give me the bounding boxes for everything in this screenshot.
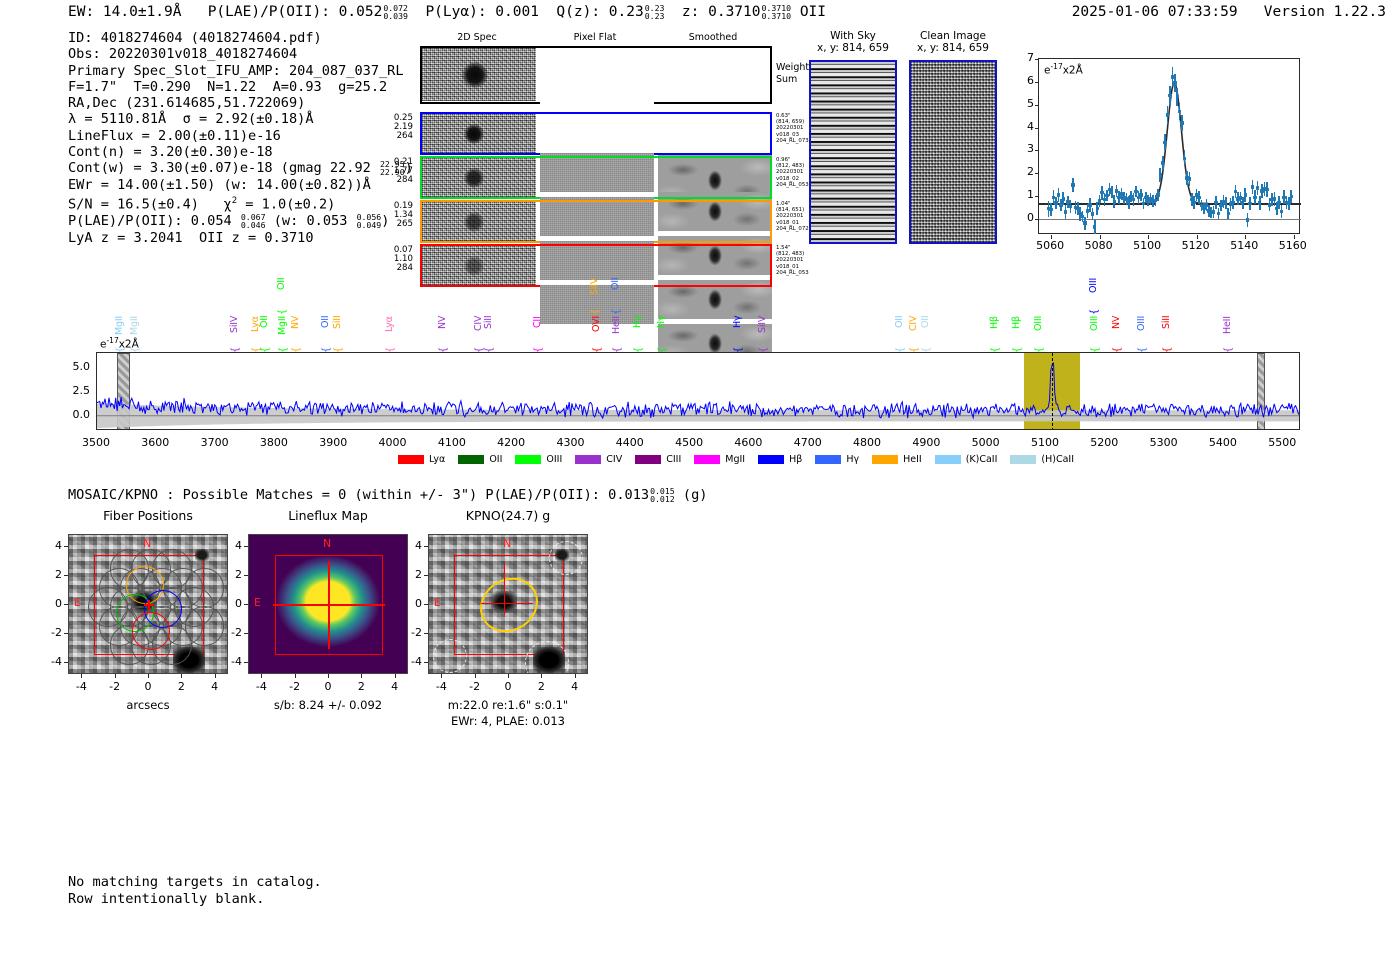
panel-ytick-label-kpno-g: -2 — [404, 626, 422, 640]
legend-item-(H)CaII: (H)CaII — [1010, 454, 1074, 465]
param-redshifts: LyA z = 3.2041 OII z = 0.3710 — [68, 230, 413, 246]
panel-ytick-label-lineflux-map: -2 — [224, 626, 242, 640]
legend-label-OIII: OIII — [546, 454, 562, 465]
param-radec: RA,Dec (231.614685,51.722069) — [68, 95, 413, 111]
panel-xtick-label-kpno-g: 4 — [561, 680, 589, 694]
line-fit-point — [1091, 212, 1094, 215]
panel-xtick-label-lineflux-map: 2 — [347, 680, 375, 694]
dashed-circle-1 — [433, 639, 467, 673]
emission-line-brace-8: { — [321, 340, 332, 353]
spectrum-xtick-label: 4200 — [486, 436, 536, 450]
line-fit-point — [1224, 201, 1227, 204]
spectrum-xtick-label: 3500 — [71, 436, 121, 450]
line-fit-ytick-label: 4 — [1016, 120, 1034, 133]
line-fit-ytick-label: 7 — [1016, 51, 1034, 64]
panel-image-lineflux-map — [248, 534, 408, 674]
montage-col-title-1: Pixel Flat — [538, 32, 652, 44]
fiber-row-0-blob — [464, 124, 484, 144]
header-z-value: 0.3710 — [708, 4, 760, 20]
line-fit-point — [1088, 203, 1091, 206]
emission-line-brace-15: { — [592, 340, 603, 353]
legend-item-HeII: HeII — [872, 454, 922, 465]
spectrum-xtick-label: 3600 — [130, 436, 180, 450]
legend-label-CIV: CIV — [606, 454, 622, 465]
line-fit-point — [1096, 207, 1099, 210]
fiber-row-0-cell-0 — [422, 114, 536, 153]
line-fit-point — [1083, 221, 1086, 224]
panel-ytick-label-kpno-g: -4 — [404, 655, 422, 669]
emission-line-brace-13: { — [484, 340, 495, 353]
panel-xtick-fiber-positions — [215, 674, 216, 678]
emission-line-brace-26: { — [990, 340, 1001, 353]
line-fit-xtick-label: 5140 — [1226, 239, 1262, 252]
line-fit-point — [1197, 196, 1200, 199]
line-fit-point — [1231, 201, 1234, 204]
panel-ytick-kpno-g — [424, 575, 428, 576]
spectrum-xtick-label: 5100 — [1020, 436, 1070, 450]
line-fit-point — [1280, 210, 1283, 213]
panel-ytick-label-lineflux-map: -4 — [224, 655, 242, 669]
spectrum-xtick-label: 4800 — [842, 436, 892, 450]
direction-east-lineflux-map: E — [254, 596, 266, 609]
montage-col-title-2: Smoothed — [656, 32, 770, 44]
emission-line-brace-18: { — [611, 302, 622, 315]
spectrum-ytick — [96, 416, 97, 417]
line-fit-ytick-label: 0 — [1016, 211, 1034, 224]
full-spectrum-chart: 3500360037003800390040004100420043004400… — [0, 268, 1400, 478]
line-fit-xtick-label: 5160 — [1275, 239, 1311, 252]
weighted-sum-source-blob — [462, 62, 488, 88]
line-fit-point — [1217, 212, 1220, 215]
line-fit-point — [1168, 94, 1171, 97]
line-fit-point — [1173, 81, 1176, 84]
spectrum-xtick-label: 4300 — [545, 436, 595, 450]
legend-item-OIII: OIII — [515, 454, 562, 465]
line-fit-point — [1176, 95, 1179, 98]
param-cont-n: Cont(n) = 3.20(±0.30)e-18 — [68, 144, 413, 160]
fiber-row-2-left-2: 265 — [365, 220, 413, 229]
panel-ytick-label-fiber-positions: 4 — [44, 539, 62, 553]
panel-ytick-label-lineflux-map: 2 — [224, 568, 242, 582]
legend-label-Hβ: Hβ — [789, 454, 802, 465]
panel-xtick-label-fiber-positions: 2 — [167, 680, 195, 694]
legend-item-Hβ: Hβ — [758, 454, 802, 465]
fiber-row-2-left-labels: 0.191.34265 — [365, 202, 413, 232]
panel-xtick-lineflux-map — [395, 674, 396, 678]
emission-line-brace-30: { — [1089, 302, 1100, 315]
param-seeing: F=1.7" T=0.290 N=1.22 A=0.93 g=25.2 — [68, 79, 413, 95]
fiber-row-1-left-2: 284 — [365, 176, 413, 185]
header-timestamp-version: 2025-01-06 07:33:59 Version 1.22.3 — [1072, 4, 1386, 20]
line-fit-chart: e-17x2Å50605080510051205140516001234567 — [994, 48, 1306, 260]
line-fit-point — [1258, 201, 1261, 204]
legend-item-Lyα: Lyα — [398, 454, 445, 465]
panel-xtick-label-lineflux-map: -2 — [281, 680, 309, 694]
legend-swatch-Hγ — [815, 455, 841, 464]
spectrum-xtick-label: 5000 — [961, 436, 1011, 450]
emission-line-brace-22: { — [758, 340, 769, 353]
panel-xtick-label-kpno-g: -4 — [427, 680, 455, 694]
param-lineflux: LineFlux = 2.00(±0.11)e-16 — [68, 128, 413, 144]
legend-label-(K)CaII: (K)CaII — [966, 454, 998, 465]
line-fit-point — [1161, 161, 1164, 164]
legend-swatch-OII — [458, 455, 484, 464]
line-fit-point — [1163, 141, 1166, 144]
panel-xtick-kpno-g — [475, 674, 476, 678]
spectrum-xtick-label: 4500 — [664, 436, 714, 450]
legend-item-CIV: CIV — [575, 454, 622, 465]
param-obs: Obs: 20220301v018_4018274604 — [68, 46, 413, 62]
cutout-title-text-clean-image: Clean Image — [903, 30, 1003, 42]
panel-ytick-label-lineflux-map: 4 — [224, 539, 242, 553]
panel-caption2-kpno-g: EWr: 4, PLAE: 0.013 — [388, 714, 628, 729]
panel-image-kpno-g — [428, 534, 588, 674]
line-fit-point — [1277, 201, 1280, 204]
emission-line-brace-31: { — [1112, 340, 1123, 353]
panel-xtick-label-fiber-positions: 0 — [134, 680, 162, 694]
panel-xtick-label-lineflux-map: 4 — [381, 680, 409, 694]
line-fit-ytick-label: 5 — [1016, 97, 1034, 110]
line-fit-point — [1253, 196, 1256, 199]
panel-xtick-kpno-g — [541, 674, 542, 678]
line-fit-xtick-label: 5120 — [1178, 239, 1214, 252]
emission-line-brace-17: { — [612, 340, 623, 353]
emission-line-brace-10: { — [385, 340, 396, 353]
line-fit-point — [1049, 208, 1052, 211]
fiber-row-1-cell-0 — [422, 158, 536, 197]
spectra-montage: 2D SpecPixel FlatSmoothedWeightedSum0.25… — [420, 32, 820, 257]
spectrum-axes — [96, 352, 1300, 430]
spectrum-ytick-label: 2.5 — [52, 384, 90, 398]
panel-xtick-fiber-positions — [148, 674, 149, 678]
panel-ytick-kpno-g — [424, 662, 428, 663]
spectrum-xtick-label: 4900 — [901, 436, 951, 450]
emission-line-brace-34: { — [1223, 340, 1234, 353]
header-z-errors: 0.37100.3710 — [762, 4, 792, 21]
lineflux-red-box — [275, 555, 383, 655]
panel-ytick-lineflux-map — [244, 546, 248, 547]
cutout-image-with-sky — [809, 60, 897, 244]
header-plya-label: P(Lyα): — [425, 4, 486, 20]
panel-ytick-label-lineflux-map: 0 — [224, 597, 242, 611]
panel-ytick-lineflux-map — [244, 662, 248, 663]
line-fit-point — [1064, 210, 1067, 213]
header-summary: EW: 14.0±1.9Å P(LAE)/P(OII): 0.0520.0720… — [68, 4, 826, 21]
header-plae-label: P(LAE)/P(OII): — [208, 4, 330, 20]
emission-line-legend: LyαOIIOIIICIVCIIIMgIIHβHγHeII(K)CaII(H)C… — [398, 452, 1018, 466]
panel-ytick-lineflux-map — [244, 575, 248, 576]
line-fit-point — [1178, 110, 1181, 113]
line-fit-point — [1071, 183, 1074, 186]
panel-ytick-kpno-g — [424, 546, 428, 547]
spectrum-xtick-label: 4400 — [605, 436, 655, 450]
mosaic-match-line: MOSAIC/KPNO : Possible Matches = 0 (with… — [68, 487, 707, 504]
emission-line-brace-32: { — [1137, 340, 1148, 353]
spectrum-xtick-label: 5300 — [1139, 436, 1189, 450]
line-fit-axes: e-17x2Å — [1038, 58, 1300, 234]
param-primary-spec-slot: Primary Spec_Slot_IFU_AMP: 204_087_037_R… — [68, 63, 413, 79]
panel-title-kpno-g: KPNO(24.7) g — [406, 508, 610, 524]
line-fit-point — [1256, 186, 1259, 189]
panel-ytick-fiber-positions — [64, 546, 68, 547]
line-fit-point — [1093, 225, 1096, 228]
mosaic-plae-errors: 0.0150.012 — [650, 487, 675, 504]
fiber-row-0-left-2: 264 — [365, 132, 413, 141]
panel-xtick-lineflux-map — [361, 674, 362, 678]
panel-ytick-label-kpno-g: 2 — [404, 568, 422, 582]
line-fit-point — [1156, 193, 1159, 196]
header-plae-value: 0.052 — [339, 4, 383, 20]
panel-xtick-label-kpno-g: 0 — [494, 680, 522, 694]
line-fit-ytick-label: 6 — [1016, 74, 1034, 87]
header-qz-value: 0.23 — [609, 4, 644, 20]
panel-xtick-kpno-g — [575, 674, 576, 678]
panel-ytick-fiber-positions — [64, 633, 68, 634]
mosaic-filter: (g) — [683, 487, 708, 503]
line-fit-ytick-label: 1 — [1016, 188, 1034, 201]
spectrum-xtick-label: 4000 — [368, 436, 418, 450]
panel-xtick-label-lineflux-map: 0 — [314, 680, 342, 694]
param-lambda-sigma: λ = 5110.81Å σ = 2.92(±0.18)Å — [68, 111, 413, 127]
panel-xtick-fiber-positions — [115, 674, 116, 678]
header-plae-errors: 0.0720.039 — [383, 4, 408, 21]
emission-line-brace-2: { — [230, 340, 241, 353]
param-ewr: EWr = 14.00(±1.50) (w: 14.00(±0.82))Å — [68, 177, 413, 193]
spectrum-xtick-label: 3800 — [249, 436, 299, 450]
line-fit-point — [1227, 212, 1230, 215]
emission-line-brace-27: { — [1012, 340, 1023, 353]
legend-swatch-CIV — [575, 455, 601, 464]
header-z-label: z: — [682, 4, 699, 20]
header-ew: EW: 14.0±1.9Å — [68, 4, 182, 20]
spectrum-xtick-label: 5400 — [1198, 436, 1248, 450]
panel-caption-kpno-g: m:22.0 re:1.6" s:0.1" — [388, 698, 628, 713]
direction-north-kpno-g: N — [503, 537, 515, 550]
line-fit-point — [1251, 185, 1254, 188]
spectrum-xtick-label: 5500 — [1257, 436, 1307, 450]
emission-line-brace-28: { — [1034, 340, 1045, 353]
panel-xtick-label-fiber-positions: -4 — [67, 680, 95, 694]
emission-line-brace-6: { — [277, 302, 288, 315]
spectrum-xtick-label: 5200 — [1079, 436, 1129, 450]
dashed-circle-0 — [549, 541, 583, 575]
montage-col-title-0: 2D Spec — [420, 32, 534, 44]
line-fit-point — [1159, 173, 1162, 176]
line-fit-point — [1110, 190, 1113, 193]
emission-line-brace-29: { — [1090, 340, 1101, 353]
line-fit-point — [1214, 201, 1217, 204]
legend-label-MgII: MgII — [725, 454, 745, 465]
line-fit-point — [1212, 210, 1215, 213]
panel-ytick-lineflux-map — [244, 633, 248, 634]
panel-xtick-label-kpno-g: 2 — [527, 680, 555, 694]
line-fit-ytick — [1035, 196, 1039, 197]
line-fit-point — [1244, 193, 1247, 196]
line-fit-point — [1166, 113, 1169, 116]
timestamp: 2025-01-06 07:33:59 — [1072, 4, 1238, 20]
kpno-crosshair-v — [504, 563, 505, 615]
mosaic-text: MOSAIC/KPNO : Possible Matches = 0 (with… — [68, 487, 649, 503]
line-fit-point — [1248, 202, 1251, 205]
fiber-row-2-blob — [464, 212, 484, 232]
panel-xtick-lineflux-map — [261, 674, 262, 678]
spectrum-xtick-label: 4700 — [783, 436, 833, 450]
emission-line-brace-5: { — [278, 340, 289, 353]
target-marker-v-fiber-positions — [148, 600, 150, 610]
legend-swatch-MgII — [694, 455, 720, 464]
spectrum-ytick — [96, 368, 97, 369]
legend-label-HeII: HeII — [903, 454, 922, 465]
panel-xtick-kpno-g — [441, 674, 442, 678]
panel-ytick-label-fiber-positions: 2 — [44, 568, 62, 582]
line-fit-point — [1273, 197, 1276, 200]
weighted-sum-cell-0 — [422, 48, 536, 101]
panel-xtick-kpno-g — [508, 674, 509, 678]
header-qz-label: Q(z): — [556, 4, 600, 20]
panel-ytick-fiber-positions — [64, 662, 68, 663]
fiber-circle-highlight-3 — [132, 612, 170, 650]
line-fit-point — [1098, 199, 1101, 202]
bottom-cutout-panels: Fiber Positions-4-4-2-2002244NEarcsecsLi… — [0, 508, 1400, 748]
panel-ytick-kpno-g — [424, 633, 428, 634]
line-fit-xtick-label: 5060 — [1032, 239, 1068, 252]
panel-ytick-fiber-positions — [64, 604, 68, 605]
direction-east-fiber-positions: E — [74, 596, 86, 609]
param-id: ID: 4018274604 (4018274604.pdf) — [68, 30, 413, 46]
line-fit-ytick — [1035, 59, 1039, 60]
line-fit-point — [1265, 188, 1268, 191]
panel-xtick-label-kpno-g: -2 — [461, 680, 489, 694]
legend-item-(K)CaII: (K)CaII — [935, 454, 998, 465]
fiber-row-1-left-labels: 0.211.77284 — [365, 158, 413, 188]
emission-line-brace-11: { — [438, 340, 449, 353]
spectrum-marker-line — [1052, 353, 1053, 430]
spectrum-ytick-label: 5.0 — [52, 360, 90, 374]
panel-xtick-lineflux-map — [328, 674, 329, 678]
emission-line-brace-23: { — [895, 340, 906, 353]
panel-ytick-label-fiber-positions: -2 — [44, 626, 62, 640]
line-fit-point — [1139, 193, 1142, 196]
legend-swatch-(K)CaII — [935, 455, 961, 464]
line-fit-point — [1246, 218, 1249, 221]
legend-swatch-OIII — [515, 455, 541, 464]
header-plya-value: 0.001 — [495, 4, 539, 20]
fiber-row-2-cell-0 — [422, 202, 536, 241]
line-fit-xtick-label: 5080 — [1081, 239, 1117, 252]
legend-swatch-Hβ — [758, 455, 784, 464]
header-z-species: OII — [800, 4, 826, 20]
panel-ytick-lineflux-map — [244, 604, 248, 605]
emission-line-brace-0: { — [115, 340, 126, 353]
emission-line-brace-1: { — [130, 340, 141, 353]
emission-line-brace-21: { — [733, 340, 744, 353]
line-fit-ytick — [1035, 128, 1039, 129]
emission-line-brace-24: { — [909, 340, 920, 353]
line-fit-point — [1069, 205, 1072, 208]
panel-xtick-label-lineflux-map: -4 — [247, 680, 275, 694]
emission-line-brace-25: { — [921, 340, 932, 353]
line-fit-ytick — [1035, 150, 1039, 151]
emission-line-brace-19: { — [633, 340, 644, 353]
direction-north-fiber-positions: N — [143, 537, 155, 550]
fiber-row-1-blob — [464, 168, 484, 188]
spectrum-ytick-label: 0.0 — [52, 408, 90, 422]
footer-note: No matching targets in catalog. Row inte… — [68, 874, 322, 908]
direction-north-lineflux-map: N — [323, 537, 335, 550]
line-fit-point — [1180, 121, 1183, 124]
panel-ytick-label-kpno-g: 4 — [404, 539, 422, 553]
panel-title-lineflux-map: Lineflux Map — [226, 508, 430, 524]
param-plae-errors: 0.0670.046 — [241, 213, 266, 230]
line-fit-xtick-label: 5100 — [1129, 239, 1165, 252]
panel-image-fiber-positions — [68, 534, 228, 674]
legend-swatch-HeII — [872, 455, 898, 464]
emission-line-brace-9: { — [333, 340, 344, 353]
spectrum-trace — [97, 353, 1300, 430]
cutout-title-text-with-sky: With Sky — [803, 30, 903, 42]
legend-label-OII: OII — [489, 454, 502, 465]
fiber-row-0-left-labels: 0.252.19264 — [365, 114, 413, 144]
legend-item-MgII: MgII — [694, 454, 745, 465]
legend-label-(H)CaII: (H)CaII — [1041, 454, 1074, 465]
spectrum-xtick-label: 3900 — [308, 436, 358, 450]
spectrum-xtick-label: 3700 — [190, 436, 240, 450]
legend-item-Hγ: Hγ — [815, 454, 859, 465]
spectrum-xtick-label: 4100 — [427, 436, 477, 450]
kpno-crosshair-h — [481, 603, 533, 604]
line-fit-point — [1132, 198, 1135, 201]
legend-swatch-(H)CaII — [1010, 455, 1036, 464]
cutout-image-clean-image — [909, 60, 997, 244]
spectrum-xtick-label: 4600 — [723, 436, 773, 450]
cutout-title-with-sky: With Skyx, y: 814, 659 — [803, 30, 903, 58]
footer-line-2: Row intentionally blank. — [68, 891, 322, 908]
detection-parameters: ID: 4018274604 (4018274604.pdf) Obs: 202… — [68, 30, 413, 246]
line-fit-point — [1290, 195, 1293, 198]
legend-swatch-CIII — [635, 455, 661, 464]
panel-ytick-label-fiber-positions: 0 — [44, 597, 62, 611]
header-qz-errors: 0.230.23 — [645, 4, 665, 21]
panel-xtick-lineflux-map — [295, 674, 296, 678]
legend-swatch-Lyα — [398, 455, 424, 464]
emission-line-brace-16: { — [590, 302, 601, 315]
legend-item-CIII: CIII — [635, 454, 681, 465]
panel-ytick-kpno-g — [424, 604, 428, 605]
panel-ytick-fiber-positions — [64, 575, 68, 576]
line-fit-ytick — [1035, 105, 1039, 106]
line-fit-point — [1057, 193, 1060, 196]
emission-line-brace-20: { — [657, 340, 668, 353]
panel-ytick-label-kpno-g: 0 — [404, 597, 422, 611]
cutout-coords-with-sky: x, y: 814, 659 — [803, 42, 903, 54]
version-label: Version 1.22.3 — [1264, 4, 1386, 20]
emission-line-brace-14: { — [533, 340, 544, 353]
panel-ytick-label-fiber-positions: -4 — [44, 655, 62, 669]
emission-line-brace-33: { — [1162, 340, 1173, 353]
cutout-coords-clean-image: x, y: 814, 659 — [903, 42, 1003, 54]
line-fit-point — [1183, 157, 1186, 160]
direction-east-kpno-g: E — [434, 596, 446, 609]
panel-xtick-label-fiber-positions: 4 — [201, 680, 229, 694]
fiber-row-1 — [420, 156, 772, 199]
fiber-row-2 — [420, 200, 772, 243]
line-fit-ytick — [1035, 82, 1039, 83]
line-fit-ytick — [1035, 173, 1039, 174]
line-fit-point — [1113, 200, 1116, 203]
line-fit-point — [1062, 197, 1065, 200]
panel-title-fiber-positions: Fiber Positions — [46, 508, 250, 524]
legend-label-Hγ: Hγ — [846, 454, 859, 465]
